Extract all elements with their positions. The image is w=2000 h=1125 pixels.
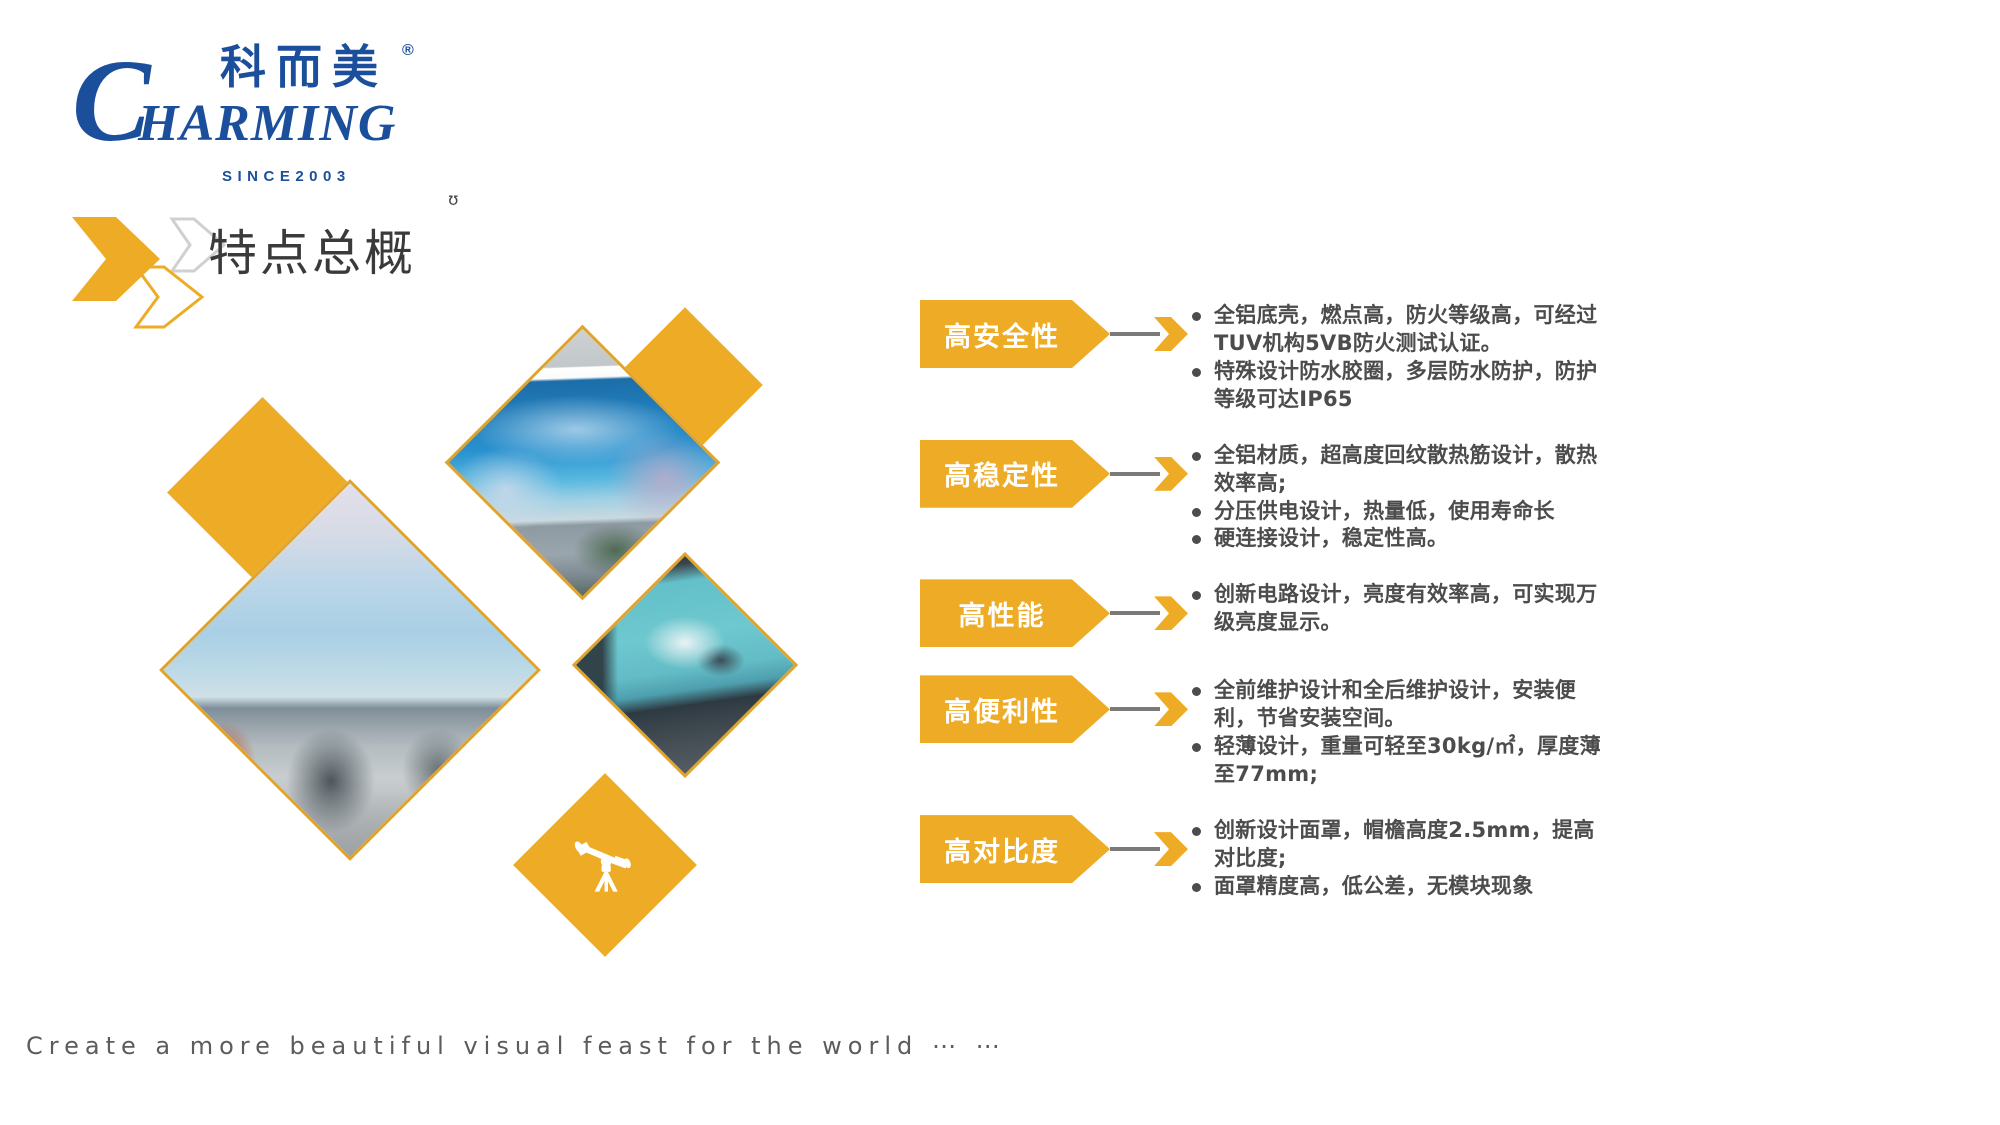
image-collage (150, 380, 850, 1000)
feature-badge-high-safety[interactable]: 高安全性 (920, 300, 1110, 368)
feature-bullet: 全铝材质，超高度回纹散热筋设计，散热效率高; (1190, 442, 1610, 498)
feature-badge-high-performance[interactable]: 高性能 (920, 579, 1110, 647)
arrow-right-icon (1110, 843, 1190, 855)
feature-bullet: 创新设计面罩，帽檐高度2.5mm，提高对比度; (1190, 817, 1610, 873)
feature-bullet: 全铝底壳，燃点高，防火等级高，可经过TUV机构5VB防火测试认证。 (1190, 302, 1610, 358)
feature-badge-wrap: 高对比度 (920, 815, 1190, 883)
feature-row: 高便利性 全前维护设计和全后维护设计，安装便利，节省安装空间。 轻薄设计，重量可… (920, 675, 1960, 789)
arrow-right-icon (1110, 607, 1190, 619)
logo-chinese-name: 科而美 (220, 44, 388, 90)
footer-tagline: Create a more beautiful visual feast for… (26, 1032, 1006, 1060)
feature-bullet: 分压供电设计，热量低，使用寿命长 (1190, 498, 1610, 526)
telescope-icon (568, 828, 642, 902)
icon-diamond-telescope (513, 773, 697, 957)
feature-bullet: 硬连接设计，稳定性高。 (1190, 525, 1610, 553)
feature-row: 高对比度 创新设计面罩，帽檐高度2.5mm，提高对比度; 面罩精度高，低公差，无… (920, 815, 1960, 901)
feature-bullets: 创新电路设计，亮度有效率高，可实现万级亮度显示。 (1190, 579, 1960, 637)
feature-badge-wrap: 高安全性 (920, 300, 1190, 368)
feature-bullet: 轻薄设计，重量可轻至30kg/㎡，厚度薄至77mm; (1190, 733, 1610, 789)
feature-badge-label: 高便利性 (944, 690, 1086, 729)
company-logo: C 科而美 ® HARMING SINCE2003 (72, 36, 402, 161)
feature-row: 高性能 创新电路设计，亮度有效率高，可实现万级亮度显示。 (920, 579, 1960, 647)
logo-since-text: SINCE2003 (222, 168, 351, 185)
arrow-right-icon (1110, 703, 1190, 715)
3d-led-display-whale-image (573, 553, 796, 776)
feature-badge-label: 高对比度 (944, 830, 1086, 869)
stray-glyph: ʊ (448, 190, 459, 210)
registered-trademark-icon: ® (402, 42, 414, 60)
feature-bullet: 面罩精度高，低公差，无模块现象 (1190, 873, 1610, 901)
arrow-right-icon (1110, 328, 1190, 340)
feature-badge-label: 高稳定性 (944, 454, 1086, 493)
logo-wordmark: HARMING (138, 98, 396, 150)
feature-row: 高安全性 全铝底壳，燃点高，防火等级高，可经过TUV机构5VB防火测试认证。 特… (920, 300, 1960, 414)
feature-badge-wrap: 高性能 (920, 579, 1190, 647)
feature-bullet: 创新电路设计，亮度有效率高，可实现万级亮度显示。 (1190, 581, 1610, 637)
feature-badge-high-stability[interactable]: 高稳定性 (920, 440, 1110, 508)
feature-bullet: 特殊设计防水胶圈，多层防水防护，防护等级可达IP65 (1190, 358, 1610, 414)
feature-bullets: 全铝材质，超高度回纹散热筋设计，散热效率高; 分压供电设计，热量低，使用寿命长 … (1190, 440, 1960, 554)
page-title: 特点总概 (208, 225, 416, 284)
page-title-block: 特点总概 (70, 215, 630, 325)
photo-diamond-whale-display (572, 552, 798, 778)
feature-bullets: 创新设计面罩，帽檐高度2.5mm，提高对比度; 面罩精度高，低公差，无模块现象 (1190, 815, 1960, 901)
feature-badge-label: 高性能 (959, 594, 1072, 633)
arrow-right-icon (1110, 468, 1190, 480)
feature-bullets: 全铝底壳，燃点高，防火等级高，可经过TUV机构5VB防火测试认证。 特殊设计防水… (1190, 300, 1960, 414)
feature-bullet: 全前维护设计和全后维护设计，安装便利，节省安装空间。 (1190, 677, 1610, 733)
feature-badge-wrap: 高稳定性 (920, 440, 1190, 508)
logo-letter-c: C (72, 42, 147, 160)
feature-badge-label: 高安全性 (944, 315, 1086, 354)
feature-row: 高稳定性 全铝材质，超高度回纹散热筋设计，散热效率高; 分压供电设计，热量低，使… (920, 440, 1960, 554)
feature-bullets: 全前维护设计和全后维护设计，安装便利，节省安装空间。 轻薄设计，重量可轻至30k… (1190, 675, 1960, 789)
feature-badge-wrap: 高便利性 (920, 675, 1190, 743)
features-list: 高安全性 全铝底壳，燃点高，防火等级高，可经过TUV机构5VB防火测试认证。 特… (920, 300, 1960, 901)
feature-badge-high-contrast[interactable]: 高对比度 (920, 815, 1110, 883)
feature-badge-high-convenience[interactable]: 高便利性 (920, 675, 1110, 743)
